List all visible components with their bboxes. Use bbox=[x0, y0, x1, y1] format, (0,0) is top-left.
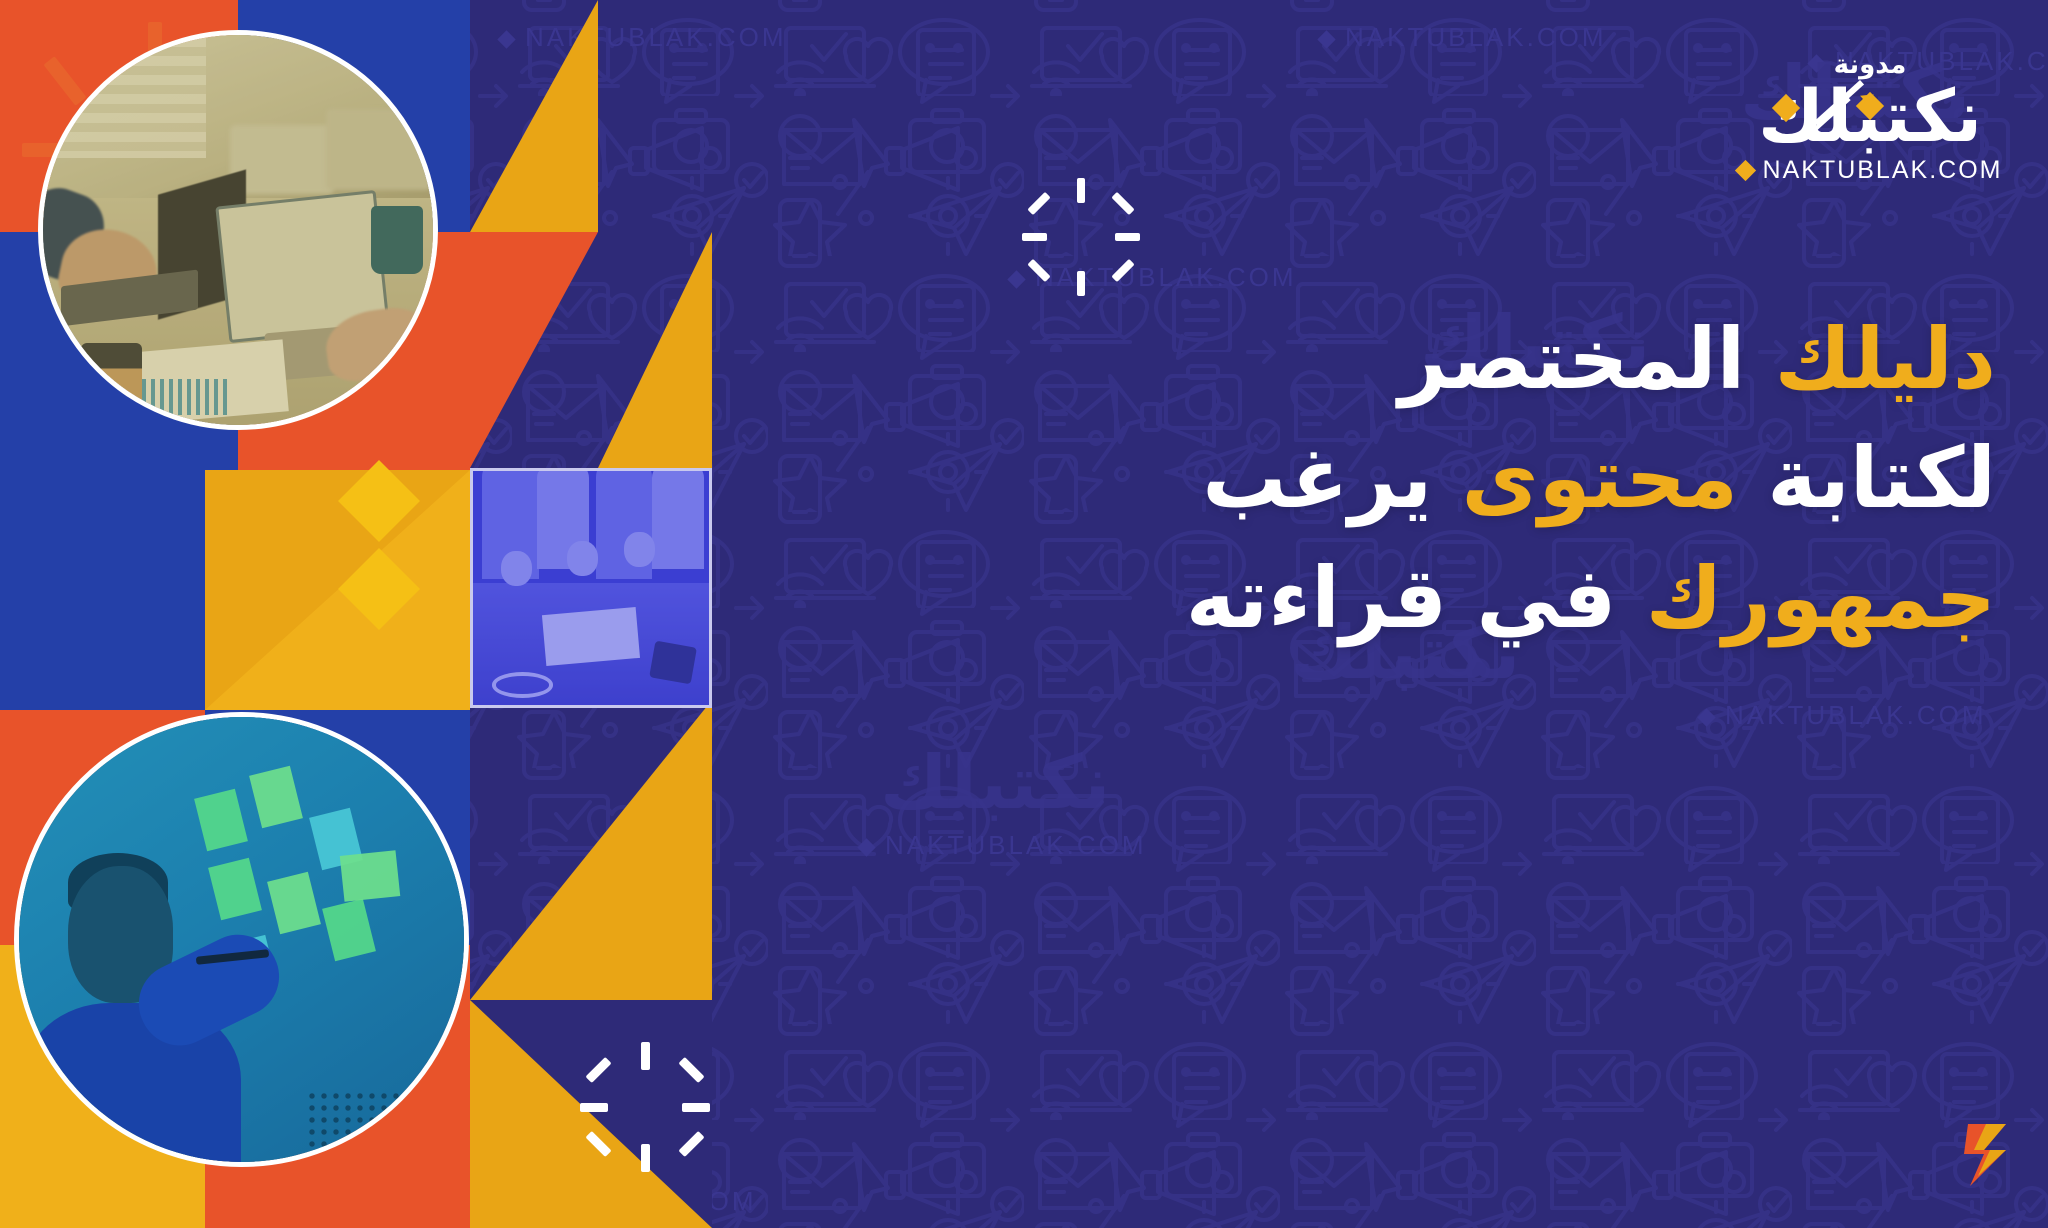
headline-plain-word-1: المختصر bbox=[1399, 310, 1746, 408]
watermark-arabic: نكتبلك bbox=[880, 740, 1110, 826]
photo-desk-laptops bbox=[38, 30, 438, 430]
headline-plain-word-2b: يرغب bbox=[1202, 429, 1432, 527]
triangle-yellow-bottom bbox=[470, 700, 712, 1000]
diamond-bullet-icon bbox=[1734, 160, 1755, 181]
brand-logo[interactable]: مدونة نكتبلك NAKTUBLAK.COM bbox=[1720, 50, 2020, 185]
headline-accent-word-1: دليلك bbox=[1775, 310, 1996, 408]
photo-meeting-notes bbox=[470, 468, 712, 708]
starburst-white-top-icon bbox=[1022, 178, 1140, 296]
logo-domain-text: NAKTUBLAK.COM bbox=[1763, 156, 2003, 185]
headline-plain-word-3: في قراءته bbox=[1186, 549, 1617, 647]
headline-line-3: جمهورك في قراءته bbox=[896, 539, 1996, 658]
watermark-latin: NAKTUBLAK.COM bbox=[1700, 700, 1987, 731]
triangle-yellow-top bbox=[470, 0, 598, 232]
photo-sticky-notes bbox=[14, 712, 469, 1167]
headline-block: دليلك المختصر لكتابة محتوى يرغب جمهورك ف… bbox=[896, 300, 1996, 658]
logo-wordmark-wrap: نكتبلك bbox=[1720, 82, 2020, 150]
triangle-orange-upper bbox=[470, 232, 598, 468]
headline-line-1: دليلك المختصر bbox=[896, 300, 1996, 419]
headline-accent-word-3: جمهورك bbox=[1646, 549, 1996, 647]
watermark-latin: NAKTUBLAK.COM bbox=[1320, 22, 1607, 53]
block-blue-row-b-left bbox=[0, 470, 205, 710]
starburst-white-bottom-icon bbox=[580, 1042, 710, 1172]
logo-domain-row: NAKTUBLAK.COM bbox=[1720, 156, 2020, 185]
headline-line-2: لكتابة محتوى يرغب bbox=[896, 419, 1996, 538]
headline-accent-word-2: محتوى bbox=[1462, 429, 1739, 527]
watermark-latin: NAKTUBLAK.COM bbox=[860, 830, 1147, 861]
triangle-yellow-upper bbox=[598, 232, 712, 468]
flash-logo-mark-icon bbox=[1964, 1124, 2010, 1186]
banner-canvas: NAKTUBLAK.COM NAKTUBLAK.COM NAKTUBLAK.CO… bbox=[0, 0, 2048, 1228]
headline-plain-word-2a: لكتابة bbox=[1767, 429, 1996, 527]
